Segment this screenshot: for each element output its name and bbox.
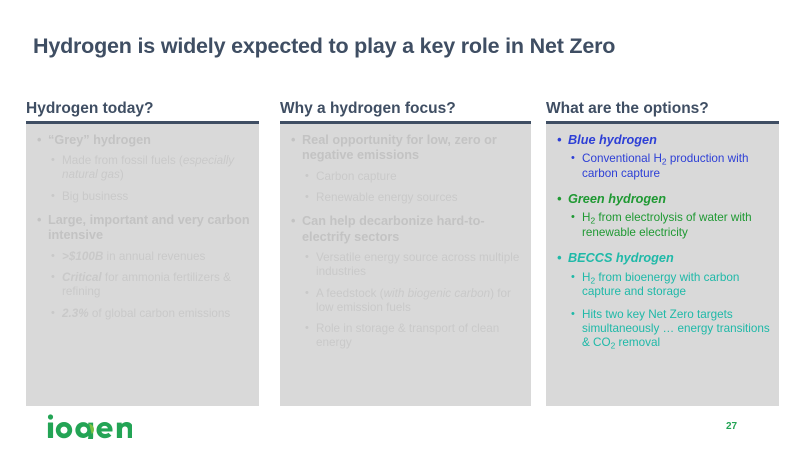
- bullet-dot-icon: •: [305, 286, 309, 300]
- text-run: ): [120, 168, 124, 181]
- bullet-label: BECCS hydrogen: [568, 251, 674, 265]
- bullet-label: Role in storage & transport of clean ene…: [316, 322, 499, 349]
- bullet-label: Carbon capture: [316, 170, 397, 183]
- sub-bullet-list: •Carbon capture•Renewable energy sources: [302, 170, 523, 206]
- column-what-are-the-options: What are the options? •Blue hydrogen•Con…: [546, 100, 779, 406]
- text-run: from electrolysis of water with renewabl…: [582, 211, 752, 239]
- sub-bullet-list: •Made from fossil fuels (especially natu…: [48, 154, 251, 204]
- bullet-level-2: •Versatile energy source across multiple…: [302, 251, 523, 280]
- bullet-dot-icon: •: [51, 249, 55, 263]
- sub-bullet-list: •Versatile energy source across multiple…: [302, 251, 523, 351]
- bullet-label: A feedstock (with biogenic carbon) for l…: [316, 287, 511, 314]
- bullet-dot-icon: •: [557, 251, 561, 266]
- bullet-level-2: •Role in storage & transport of clean en…: [302, 322, 523, 351]
- text-run: removal: [615, 336, 660, 349]
- bullet-level-2: •Big business: [48, 190, 251, 204]
- bullet-dot-icon: •: [305, 169, 309, 183]
- bullet-label: H2 from electrolysis of water with renew…: [582, 211, 752, 239]
- bullet-level-2: •Made from fossil fuels (especially natu…: [48, 154, 251, 183]
- bullet-label: “Grey” hydrogen: [48, 133, 151, 147]
- bullet-dot-icon: •: [571, 270, 575, 284]
- text-run: Made from fossil fuels (: [62, 154, 183, 167]
- bullet-label: Made from fossil fuels (especially natur…: [62, 154, 234, 181]
- text-run: from bioenergy with carbon capture and s…: [582, 271, 739, 299]
- bullet-level-1: •Large, important and very carbon intens…: [34, 213, 251, 244]
- bullet-label: Large, important and very carbon intensi…: [48, 213, 250, 242]
- bullet-level-2: •Hits two key Net Zero targets simultane…: [568, 308, 771, 351]
- bullet-label: Can help decarbonize hard-to-electrify s…: [302, 214, 485, 243]
- text-run: 2.3%: [62, 307, 89, 320]
- sub-bullet-list: •H2 from electrolysis of water with rene…: [568, 211, 771, 240]
- bullet-dot-icon: •: [51, 306, 55, 320]
- bullet-dot-icon: •: [291, 133, 295, 148]
- bullet-dot-icon: •: [557, 133, 561, 148]
- bullet-list: •Real opportunity for low, zero or negat…: [288, 133, 523, 351]
- text-run: in annual revenues: [103, 250, 205, 263]
- column-panel: •Blue hydrogen•Conventional H2 productio…: [546, 124, 779, 406]
- bullet-level-1: •Real opportunity for low, zero or negat…: [288, 133, 523, 164]
- sub-bullet-list: •H2 from bioenergy with carbon capture a…: [568, 271, 771, 351]
- sub-bullet-list: •>$100B in annual revenues•Critical for …: [48, 250, 251, 321]
- bullet-label: Big business: [62, 190, 128, 203]
- page-number: 27: [726, 421, 737, 432]
- column-panel: •Real opportunity for low, zero or negat…: [280, 124, 531, 406]
- bullet-level-2: •H2 from electrolysis of water with rene…: [568, 211, 771, 240]
- text-run: Critical: [62, 271, 102, 284]
- bullet-label: Blue hydrogen: [568, 133, 657, 147]
- bullet-label: 2.3% of global carbon emissions: [62, 307, 230, 320]
- bullet-dot-icon: •: [557, 192, 561, 207]
- column-why-hydrogen-focus: Why a hydrogen focus? •Real opportunity …: [280, 100, 531, 406]
- text-run: with biogenic carbon: [384, 287, 491, 300]
- bullet-dot-icon: •: [51, 270, 55, 284]
- bullet-label: >$100B in annual revenues: [62, 250, 205, 263]
- page-title: Hydrogen is widely expected to play a ke…: [33, 34, 773, 59]
- bullet-level-1: •“Grey” hydrogen: [34, 133, 251, 148]
- bullet-dot-icon: •: [51, 153, 55, 167]
- text-run: >$100B: [62, 250, 103, 263]
- bullet-dot-icon: •: [37, 213, 41, 228]
- bullet-level-2: •>$100B in annual revenues: [48, 250, 251, 264]
- bullet-level-2: •A feedstock (with biogenic carbon) for …: [302, 287, 523, 316]
- bullet-dot-icon: •: [305, 190, 309, 204]
- bullet-level-1: •Can help decarbonize hard-to-electrify …: [288, 214, 523, 245]
- bullet-label: Critical for ammonia fertilizers & refin…: [62, 271, 231, 298]
- column-header: Why a hydrogen focus?: [280, 100, 531, 121]
- text-run: of global carbon emissions: [89, 307, 231, 320]
- text-run: A feedstock (: [316, 287, 384, 300]
- bullet-level-2: •Conventional H2 production with carbon …: [568, 152, 771, 181]
- text-run: Big business: [62, 190, 128, 203]
- bullet-level-2: •H2 from bioenergy with carbon capture a…: [568, 271, 771, 300]
- bullet-list: •Blue hydrogen•Conventional H2 productio…: [554, 133, 771, 351]
- sub-bullet-list: •Conventional H2 production with carbon …: [568, 152, 771, 181]
- text-run: Carbon capture: [316, 170, 397, 183]
- text-run: Role in storage & transport of clean ene…: [316, 322, 499, 349]
- bullet-dot-icon: •: [571, 210, 575, 224]
- bullet-dot-icon: •: [305, 250, 309, 264]
- bullet-level-1: •Green hydrogen: [554, 192, 771, 207]
- bullet-label: H2 from bioenergy with carbon capture an…: [582, 271, 739, 299]
- bullet-dot-icon: •: [37, 133, 41, 148]
- column-panel: •“Grey” hydrogen•Made from fossil fuels …: [26, 124, 259, 406]
- text-run: Conventional H: [582, 152, 662, 165]
- iogen-logo: [46, 413, 132, 439]
- text-run: Versatile energy source across multiple …: [316, 251, 519, 278]
- bullet-label: Real opportunity for low, zero or negati…: [302, 133, 497, 162]
- bullet-list: •“Grey” hydrogen•Made from fossil fuels …: [34, 133, 251, 321]
- bullet-label: Conventional H2 production with carbon c…: [582, 152, 748, 180]
- bullet-dot-icon: •: [291, 214, 295, 229]
- column-header: What are the options?: [546, 100, 779, 121]
- bullet-level-2: •Critical for ammonia fertilizers & refi…: [48, 271, 251, 300]
- bullet-level-2: •Carbon capture: [302, 170, 523, 184]
- bullet-level-2: •2.3% of global carbon emissions: [48, 307, 251, 321]
- bullet-label: Versatile energy source across multiple …: [316, 251, 519, 278]
- bullet-dot-icon: •: [571, 151, 575, 165]
- bullet-dot-icon: •: [51, 189, 55, 203]
- bullet-level-1: •Blue hydrogen: [554, 133, 771, 148]
- bullet-label: Renewable energy sources: [316, 191, 458, 204]
- column-hydrogen-today: Hydrogen today? •“Grey” hydrogen•Made fr…: [26, 100, 259, 406]
- bullet-dot-icon: •: [305, 321, 309, 335]
- bullet-dot-icon: •: [571, 307, 575, 321]
- bullet-level-1: •BECCS hydrogen: [554, 251, 771, 266]
- bullet-label: Green hydrogen: [568, 192, 666, 206]
- text-run: Renewable energy sources: [316, 191, 458, 204]
- bullet-label: Hits two key Net Zero targets simultaneo…: [582, 308, 770, 350]
- slide-canvas: Hydrogen is widely expected to play a ke…: [0, 0, 800, 450]
- bullet-level-2: •Renewable energy sources: [302, 191, 523, 205]
- column-header: Hydrogen today?: [26, 100, 259, 121]
